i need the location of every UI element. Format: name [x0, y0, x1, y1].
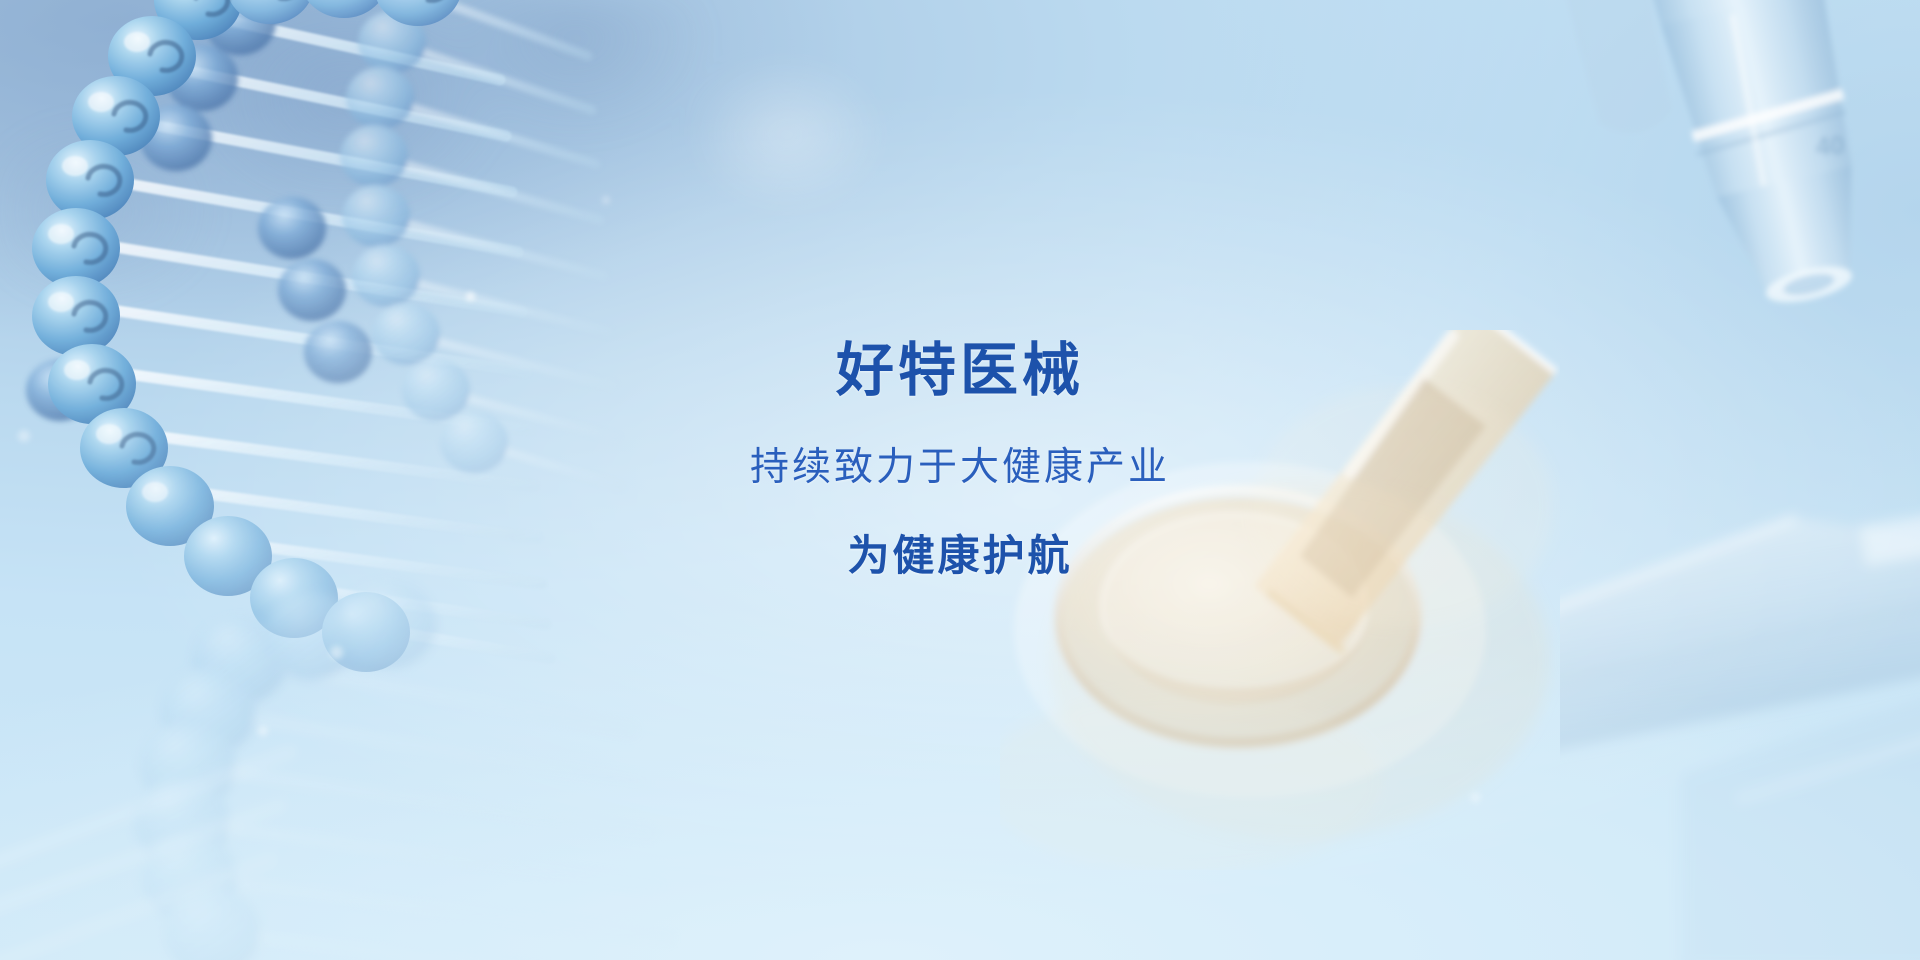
hero-banner: 40	[0, 0, 1920, 960]
page-subtitle: 持续致力于大健康产业	[750, 448, 1170, 487]
objective-magnification-label: 40	[1814, 130, 1845, 162]
page-title: 好特医械	[836, 342, 1084, 400]
page-slogan: 为健康护航	[847, 535, 1072, 577]
headline-block: 好特医械 持续致力于大健康产业 为健康护航	[0, 342, 1920, 577]
